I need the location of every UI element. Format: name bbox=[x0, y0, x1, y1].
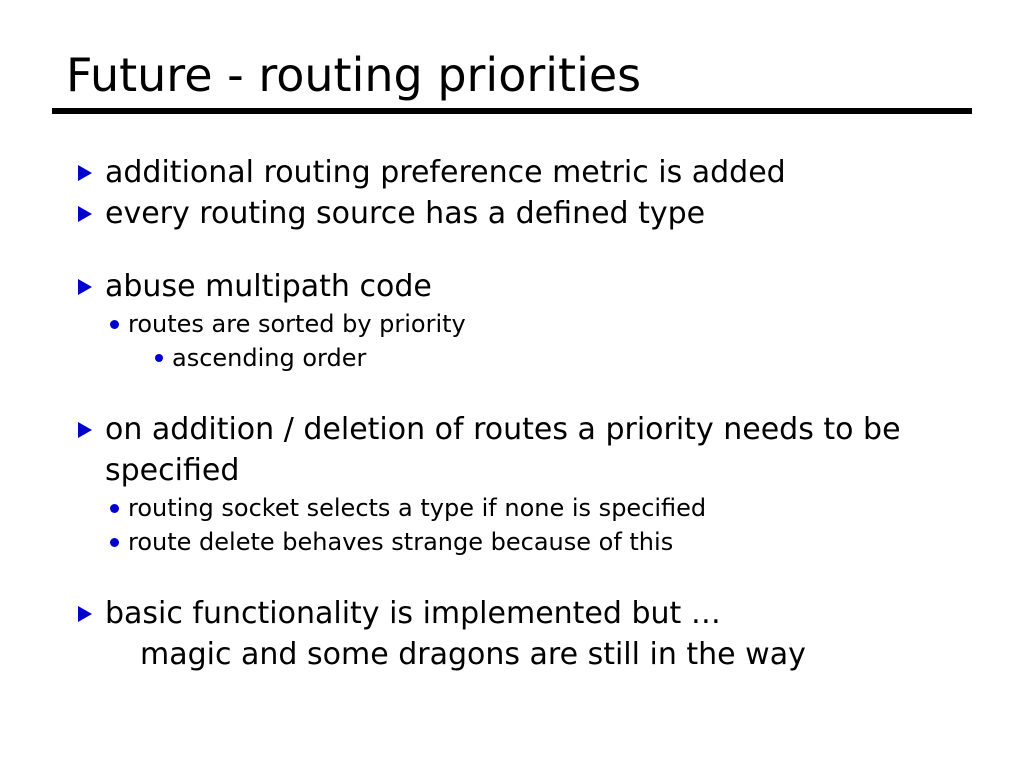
list-item-label: ascending order bbox=[172, 344, 366, 372]
list-item: basic functionality is implemented but … bbox=[0, 593, 1024, 634]
triangle-right-icon bbox=[78, 165, 92, 181]
list-item-label: magic and some dragons are still in the … bbox=[140, 637, 806, 672]
list-item: routes are sorted by priority bbox=[0, 307, 1024, 341]
list-item: abuse multipath code bbox=[0, 266, 1024, 307]
list-item-label: additional routing preference metric is … bbox=[105, 152, 924, 193]
list-item-label: route delete behaves strange because of … bbox=[128, 528, 673, 556]
list-item-label: basic functionality is implemented but … bbox=[105, 593, 924, 634]
triangle-right-icon bbox=[78, 206, 92, 222]
list-item: routing socket selects a type if none is… bbox=[0, 491, 1024, 525]
list-item-label: routing socket selects a type if none is… bbox=[128, 494, 706, 522]
list-item: ascending order bbox=[0, 341, 1024, 375]
list-item-continuation: magic and some dragons are still in the … bbox=[0, 634, 1024, 675]
list-item: route delete behaves strange because of … bbox=[0, 525, 1024, 559]
triangle-right-icon bbox=[78, 279, 92, 295]
slide: Future - routing priorities additional r… bbox=[0, 0, 1024, 768]
dot-icon bbox=[110, 320, 119, 329]
list-item-label: every routing source has a defined type bbox=[105, 193, 924, 234]
list-item-label: abuse multipath code bbox=[105, 266, 924, 307]
title-block: Future - routing priorities bbox=[52, 48, 972, 114]
list-item: additional routing preference metric is … bbox=[0, 152, 1024, 193]
list-item-label: on addition / deletion of routes a prior… bbox=[105, 409, 924, 491]
bullet-list: additional routing preference metric is … bbox=[0, 152, 1024, 675]
triangle-right-icon bbox=[78, 422, 92, 438]
spacer bbox=[0, 559, 1024, 593]
spacer bbox=[0, 234, 1024, 266]
page-title: Future - routing priorities bbox=[52, 48, 972, 102]
spacer bbox=[0, 375, 1024, 409]
list-item: every routing source has a defined type bbox=[0, 193, 1024, 234]
list-item-label: routes are sorted by priority bbox=[128, 310, 466, 338]
dot-icon bbox=[155, 354, 163, 362]
dot-icon bbox=[110, 504, 119, 513]
dot-icon bbox=[110, 538, 119, 547]
list-item: on addition / deletion of routes a prior… bbox=[0, 409, 1024, 491]
triangle-right-icon bbox=[78, 606, 92, 622]
title-underline-rule bbox=[52, 108, 972, 114]
